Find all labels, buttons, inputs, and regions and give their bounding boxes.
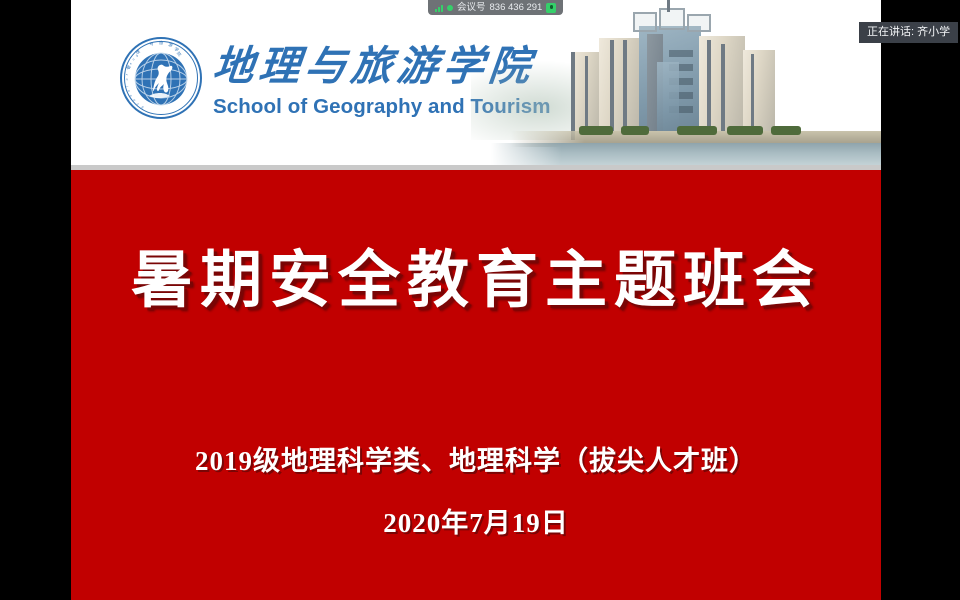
svg-text:o: o [127, 90, 131, 92]
svg-text:o: o [128, 94, 132, 97]
photo-water [491, 143, 881, 165]
svg-text:游: 游 [168, 41, 175, 49]
meeting-label: 会议号 [457, 0, 486, 15]
svg-text:e: e [129, 61, 133, 65]
svg-text:S: S [140, 105, 144, 109]
svg-text:与: 与 [148, 40, 154, 48]
svg-text:o: o [131, 57, 135, 61]
svg-text:旅: 旅 [159, 39, 164, 46]
green-status-dot-icon [447, 5, 453, 11]
slide-title-date: 2020年7月19日 [71, 502, 881, 544]
svg-text:f: f [125, 74, 129, 76]
header-divider [71, 165, 881, 170]
campus-building-photo [471, 0, 881, 165]
slide-title-main: 暑期安全教育主题班会 [71, 244, 881, 318]
microphone-on-icon[interactable] [546, 3, 556, 13]
slide-header-band: 地 理 与 旅 游 学 院 S c h o o l [71, 0, 881, 165]
svg-text:o: o [125, 78, 129, 81]
meeting-screen-share-view: 地 理 与 旅 游 学 院 S c h o o l [0, 0, 960, 600]
school-crest-horse-globe-icon: 地 理 与 旅 游 学 院 S c h o o l [119, 36, 203, 120]
signal-bars-icon [435, 4, 443, 12]
meeting-number: 836 436 291 [490, 0, 543, 15]
presentation-slide: 地 理 与 旅 游 学 院 S c h o o l [71, 0, 881, 600]
active-speaker-badge: 正在讲话: 齐小学 [859, 22, 958, 43]
svg-text:l: l [125, 86, 129, 87]
svg-text:h: h [132, 98, 136, 101]
meeting-info-pill[interactable]: 会议号 836 436 291 [428, 0, 563, 15]
slide-title-subtitle: 2019级地理科学类、地理科学（拔尖人才班） [71, 440, 881, 482]
